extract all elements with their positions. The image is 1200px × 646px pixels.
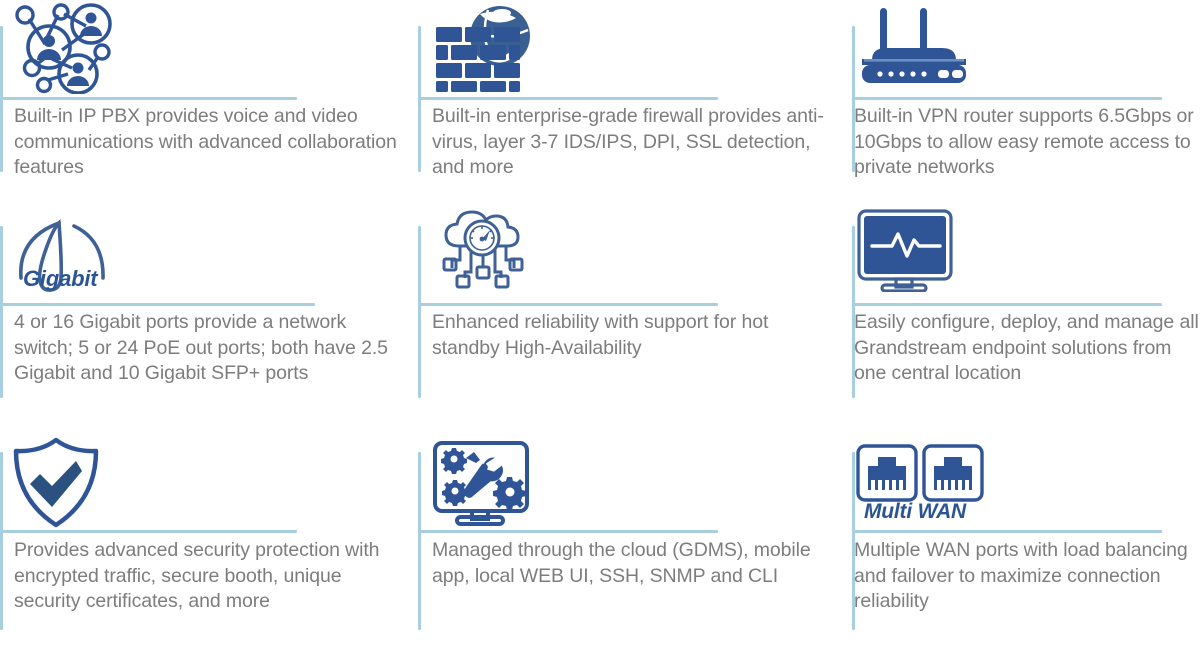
feature-grid: Built-in IP PBX provides voice and video…	[0, 0, 1200, 646]
shield-check-icon	[10, 436, 102, 530]
feature-card-high-availability: Enhanced reliability with support for ho…	[410, 200, 830, 430]
feature-card-management-interfaces: Managed through the cloud (GDMS), mobile…	[410, 430, 830, 646]
monitor-pulse-icon	[856, 208, 954, 292]
rule-vertical	[418, 452, 421, 630]
rule-horizontal	[852, 97, 1162, 100]
rule-horizontal	[418, 530, 718, 533]
feature-card-ip-pbx: Built-in IP PBX provides voice and video…	[0, 0, 410, 200]
rule-horizontal	[852, 303, 1162, 306]
feature-description: 4 or 16 Gigabit ports provide a network …	[14, 310, 410, 387]
feature-description: Managed through the cloud (GDMS), mobile…	[432, 538, 830, 589]
feature-card-vpn-router: Built-in VPN router supports 6.5Gbps or …	[830, 0, 1200, 200]
feature-card-security: Provides advanced security protection wi…	[0, 430, 410, 646]
feature-description: Built-in VPN router supports 6.5Gbps or …	[854, 104, 1200, 181]
monitor-tools-gears-icon	[432, 440, 532, 526]
feature-card-central-management: Easily configure, deploy, and manage all…	[830, 200, 1200, 430]
rule-vertical	[0, 226, 3, 398]
feature-description: Easily configure, deploy, and manage all…	[854, 310, 1200, 387]
multi-wan-badge-label: Multi WAN	[864, 500, 966, 524]
firewall-brickwall-globe-icon	[432, 2, 542, 92]
rule-vertical	[0, 452, 3, 630]
rule-horizontal	[852, 530, 1162, 533]
feature-card-multi-wan: Multi WAN Multiple WAN ports with load b…	[830, 430, 1200, 646]
rule-horizontal	[0, 303, 315, 306]
feature-description: Enhanced reliability with support for ho…	[432, 310, 830, 361]
wireless-router-icon	[854, 2, 974, 90]
gigabit-alliance-icon: Gigabit	[12, 208, 120, 296]
rule-horizontal	[418, 303, 718, 306]
network-users-icon	[12, 2, 116, 94]
feature-description: Provides advanced security protection wi…	[14, 538, 410, 615]
feature-card-gigabit-ports: Gigabit 4 or 16 Gigabit ports provide a …	[0, 200, 410, 430]
rj45-dual-port-icon: Multi WAN	[856, 444, 986, 502]
rule-horizontal	[0, 530, 297, 533]
feature-description: Built-in IP PBX provides voice and video…	[14, 104, 410, 181]
rule-horizontal	[418, 97, 718, 100]
cloud-gauge-nodes-icon	[440, 210, 526, 292]
feature-description: Multiple WAN ports with load balancing a…	[854, 538, 1200, 615]
feature-card-firewall: Built-in enterprise-grade firewall provi…	[410, 0, 830, 200]
rule-horizontal	[0, 97, 297, 100]
gigabit-badge-label: Gigabit	[23, 266, 97, 292]
rule-vertical	[418, 226, 421, 398]
feature-description: Built-in enterprise-grade firewall provi…	[432, 104, 830, 181]
